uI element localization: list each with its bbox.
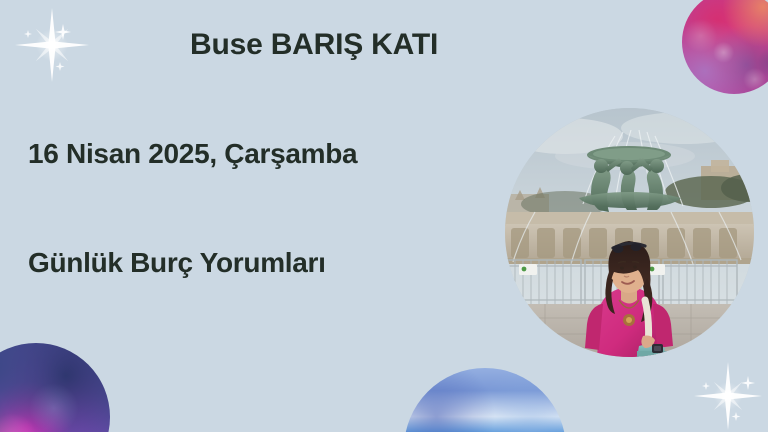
sparkle-star-icon (690, 358, 768, 432)
sparkle-star-icon (8, 2, 94, 88)
profile-photo (505, 108, 754, 357)
date-line: 16 Nisan 2025, Çarşamba (28, 138, 357, 170)
page-title: Buse BARIŞ KATI (190, 28, 560, 61)
watercolor-circle-blue-icon (404, 368, 566, 432)
topic-line: Günlük Burç Yorumları (28, 247, 326, 279)
watercolor-circle-pink-icon (682, 0, 768, 94)
watercolor-circle-nebula-icon (0, 343, 110, 432)
slide-canvas: Buse BARIŞ KATI 16 Nisan 2025, Çarşamba … (0, 0, 768, 432)
